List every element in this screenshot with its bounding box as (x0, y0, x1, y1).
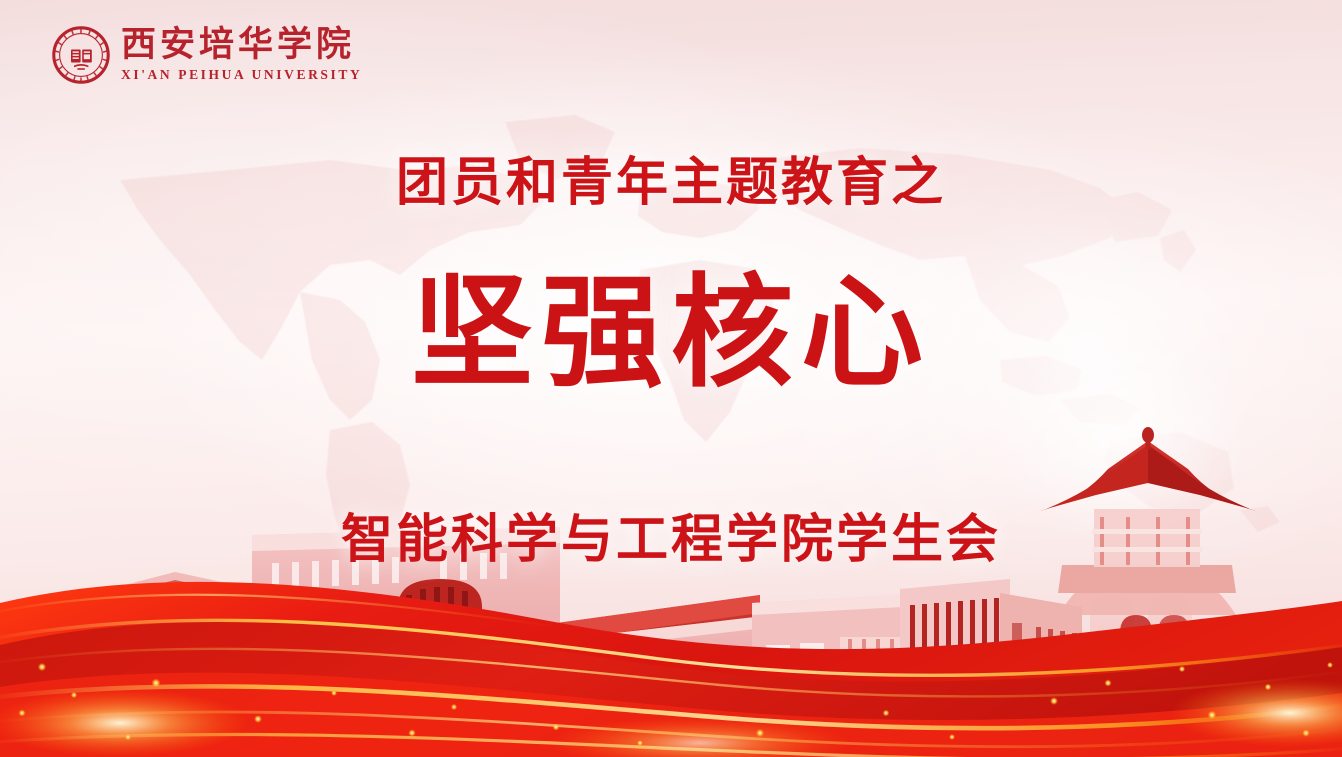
headline-block: 团员和青年主题教育之 坚强核心 智能科学与工程学院学生会 (0, 0, 1342, 600)
presentation-slide: 西安培华学院 XI'AN PEIHUA UNIVERSITY 团员和青年主题教育… (0, 0, 1342, 757)
slide-title: 坚强核心 (0, 271, 1342, 395)
university-name-cn: 西安培华学院 (121, 27, 362, 64)
logo-text-block: 西安培华学院 XI'AN PEIHUA UNIVERSITY (121, 27, 362, 83)
colonnade-left (0, 572, 470, 703)
slide-kicker: 团员和青年主题教育之 (0, 140, 1342, 215)
world-map-watermark (0, 60, 1342, 580)
slide-organization: 智能科学与工程学院学生会 (0, 497, 1342, 572)
university-logo: 西安培华学院 XI'AN PEIHUA UNIVERSITY (52, 26, 362, 84)
building-main-left (252, 527, 560, 715)
red-gold-ribbon (0, 537, 1342, 757)
background-glow-right (992, 330, 1252, 550)
building-portico (470, 595, 772, 717)
background-glow-center (738, 91, 1342, 611)
university-name-en: XI'AN PEIHUA UNIVERSITY (121, 67, 362, 83)
campus-skyline-illustration (0, 417, 1342, 757)
building-group-center-right (616, 579, 1082, 717)
plaza-steps (560, 679, 930, 717)
university-seal-icon (52, 26, 110, 84)
pagoda-tower (1040, 427, 1256, 755)
